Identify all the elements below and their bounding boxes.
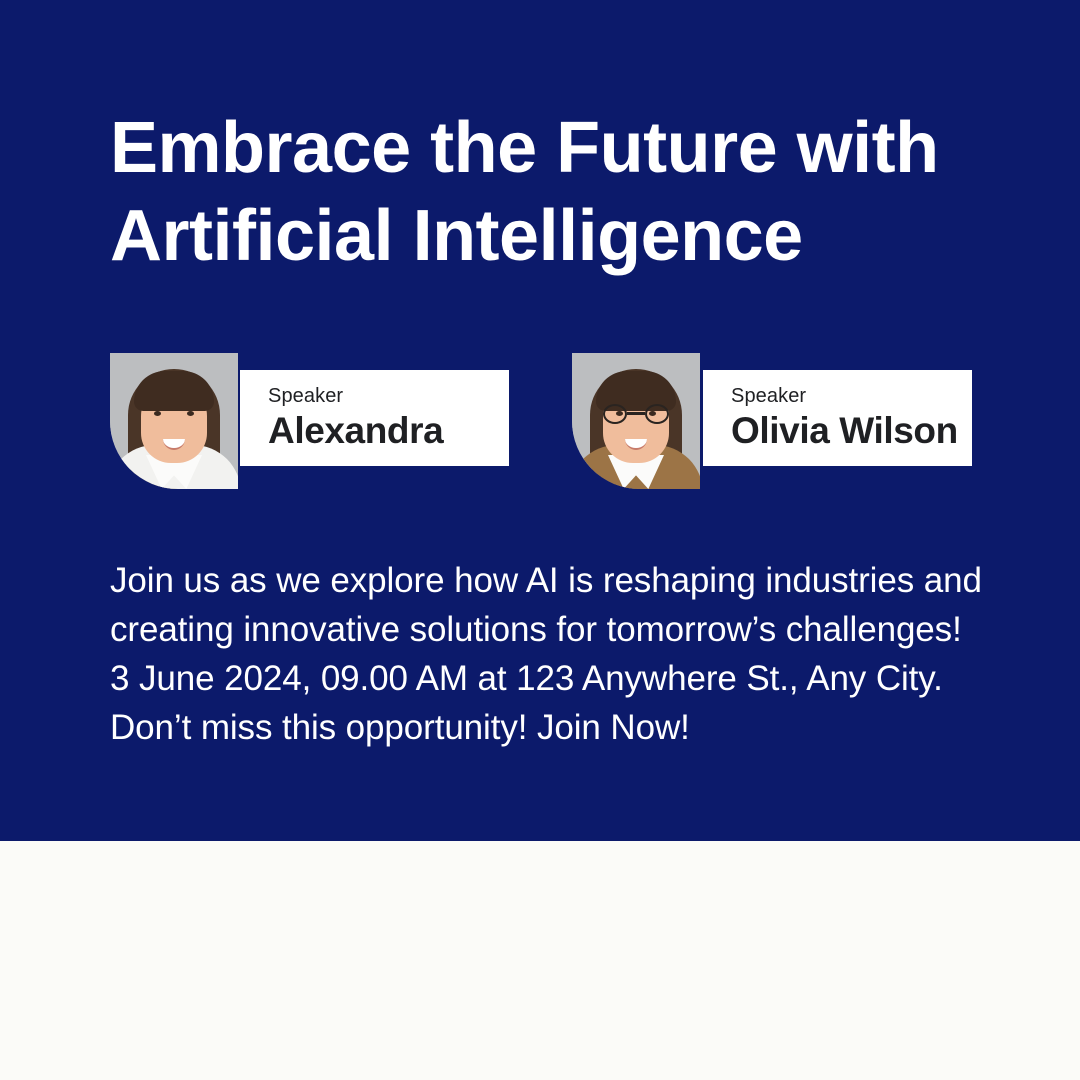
glasses-icon	[603, 404, 669, 424]
page-title: Embrace the Future with Artificial Intel…	[110, 104, 1010, 280]
portrait-illustration	[110, 353, 238, 489]
speaker-name-plate: Speaker Olivia Wilson	[703, 370, 972, 466]
speaker-photo	[572, 353, 700, 489]
event-description: Join us as we explore how AI is reshapin…	[110, 556, 990, 752]
speaker-name: Alexandra	[268, 409, 509, 453]
footer-panel: Capcut Free Registration! Follow our soc…	[0, 841, 1080, 1080]
speaker-card: Speaker Alexandra	[110, 353, 509, 489]
speaker-name: Olivia Wilson	[731, 409, 972, 453]
portrait-illustration	[572, 353, 700, 489]
event-poster: Embrace the Future with Artificial Intel…	[0, 0, 1080, 1080]
hero-panel: Embrace the Future with Artificial Intel…	[0, 0, 1080, 841]
speaker-card: Speaker Olivia Wilson	[572, 353, 972, 489]
speaker-role-label: Speaker	[731, 384, 972, 408]
speaker-list: Speaker Alexandra	[0, 353, 1080, 493]
speaker-photo	[110, 353, 238, 489]
speaker-name-plate: Speaker Alexandra	[240, 370, 509, 466]
speaker-role-label: Speaker	[268, 384, 509, 408]
